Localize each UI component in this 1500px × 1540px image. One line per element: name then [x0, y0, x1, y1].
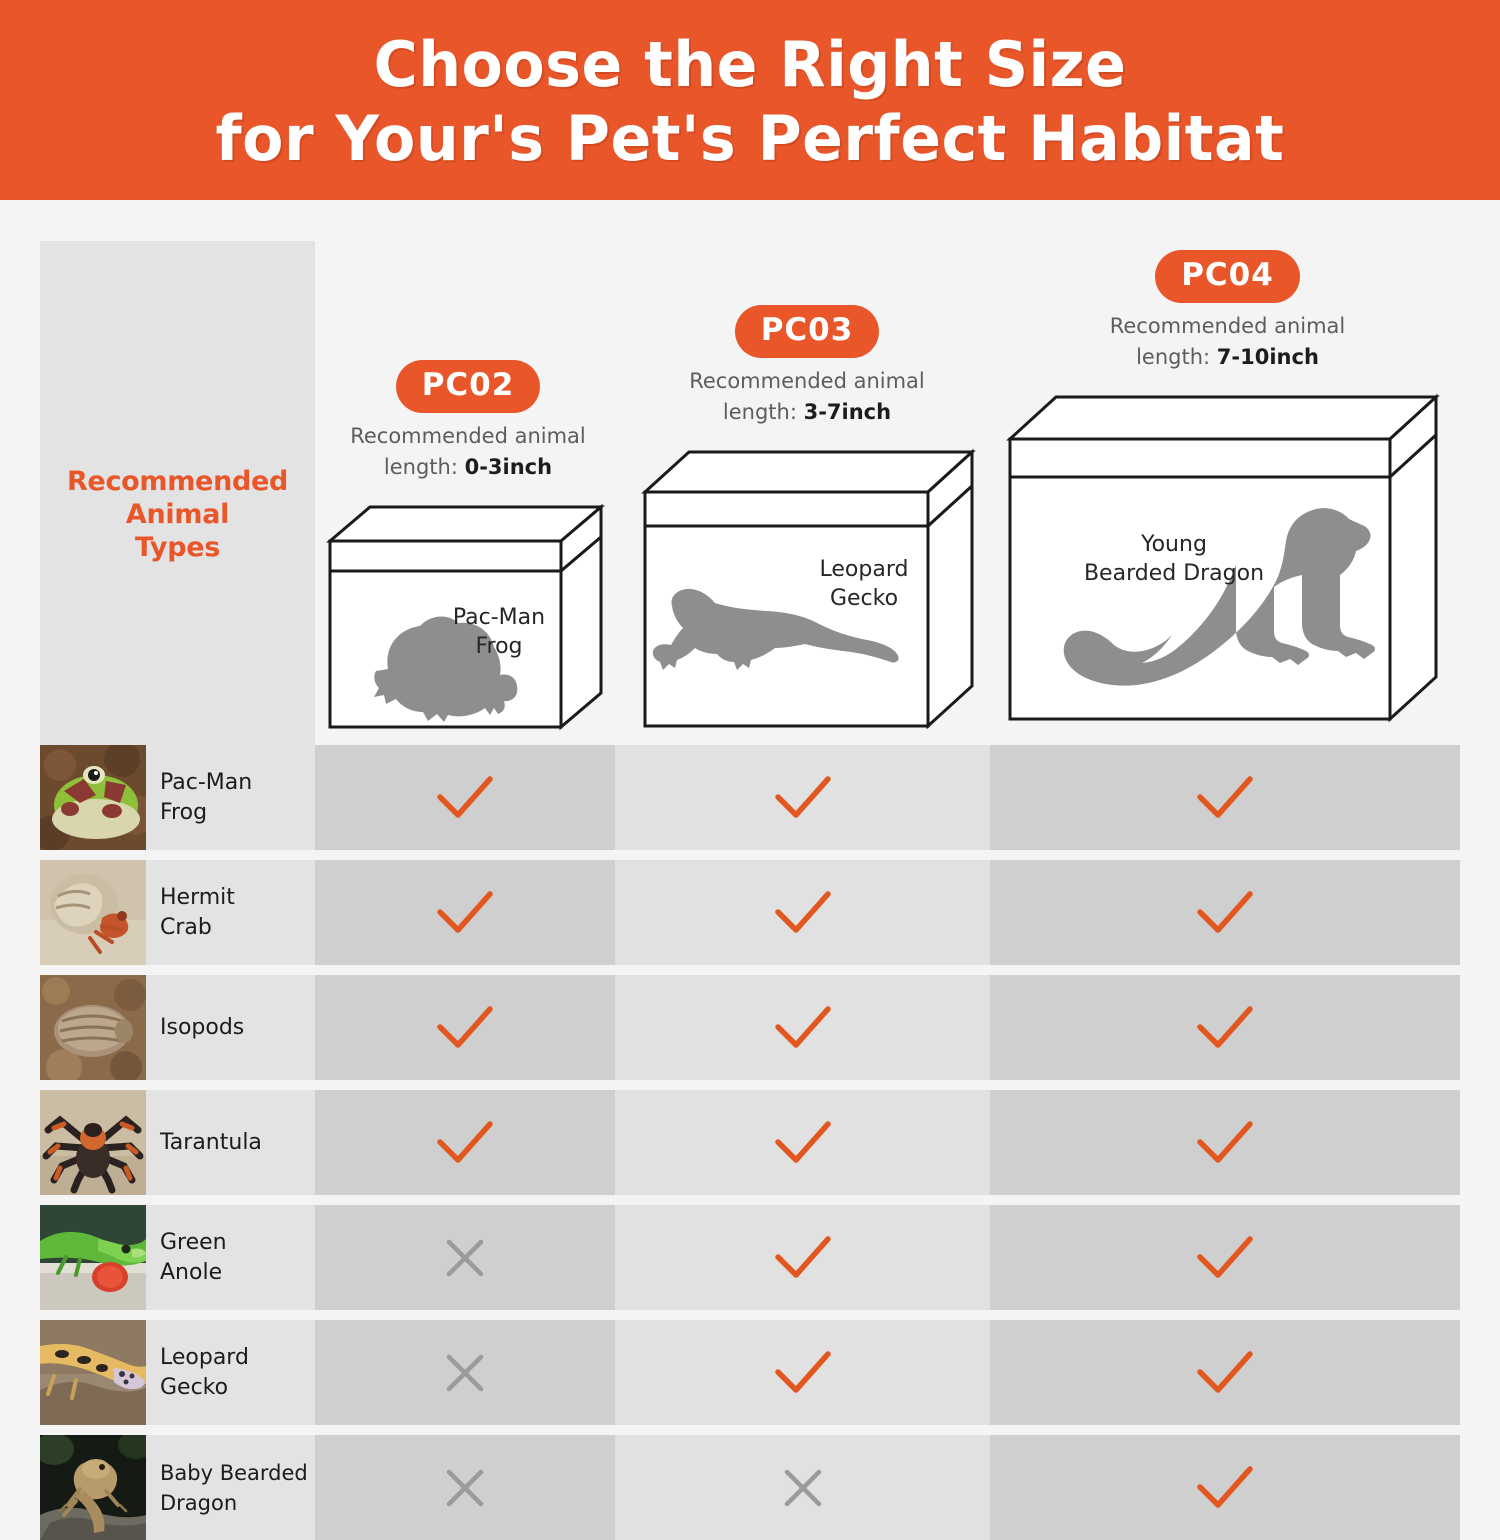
- cell-pc02[interactable]: [315, 1435, 615, 1540]
- terrarium-pc02-label-line-1: Pac-Man: [434, 603, 564, 632]
- headline-line-2: for Your's Pet's Perfect Habitat: [216, 102, 1285, 176]
- row-label-cell: Green Anole: [146, 1205, 315, 1310]
- cell-pc02[interactable]: [315, 1320, 615, 1425]
- table-row: Leopard Gecko: [0, 1320, 1500, 1425]
- title-line-2: Animal: [40, 498, 315, 531]
- pc04-caption: Recommended animal length: 7-10inch: [1000, 311, 1455, 373]
- table-row: Baby Bearded Dragon: [0, 1435, 1500, 1540]
- cross-icon: [439, 1347, 491, 1399]
- row-label-line-2: Frog: [160, 798, 252, 828]
- row-label-cell: Tarantula: [146, 1090, 315, 1195]
- table-row: Green Anole: [0, 1205, 1500, 1310]
- cell-pc03[interactable]: [615, 745, 990, 850]
- row-label-line-1: Pac-Man: [160, 768, 252, 798]
- pc03-caption-value: 3-7inch: [804, 400, 892, 424]
- check-icon: [434, 888, 496, 938]
- table-row: Tarantula: [0, 1090, 1500, 1195]
- cell-pc03[interactable]: [615, 1320, 990, 1425]
- pc02-badge-wrap: PC02: [318, 360, 618, 413]
- row-label-line-2: Dragon: [160, 1488, 308, 1518]
- check-icon: [772, 1003, 834, 1053]
- check-icon: [1194, 888, 1256, 938]
- product-group-pc03: PC03 Recommended animal length: 3-7inch …: [637, 305, 977, 735]
- pc04-caption-line-1: Recommended animal: [1110, 314, 1346, 338]
- leopard-gecko-photo: [40, 1320, 146, 1425]
- row-label: Green Anole: [146, 1228, 227, 1288]
- row-label: Tarantula: [146, 1128, 262, 1158]
- row-label-cell: Isopods: [146, 975, 315, 1080]
- check-icon: [772, 1348, 834, 1398]
- cell-pc03[interactable]: [615, 1090, 990, 1195]
- title-line-1: Recommended: [40, 465, 315, 498]
- terrarium-pc03-label-line-2: Gecko: [794, 584, 934, 613]
- cell-pc04[interactable]: [990, 1090, 1460, 1195]
- table-row: Isopods: [0, 975, 1500, 1080]
- pacman-frog-photo: [40, 745, 146, 850]
- recommended-animal-types-panel: Recommended Animal Types: [40, 241, 315, 745]
- check-icon: [772, 1118, 834, 1168]
- row-label-line-2: Anole: [160, 1258, 227, 1288]
- pc02-badge[interactable]: PC02: [396, 360, 541, 413]
- terrarium-pc03-label: Leopard Gecko: [794, 555, 934, 613]
- row-label-cell: Pac-Man Frog: [146, 745, 315, 850]
- tarantula-photo: [40, 1090, 146, 1195]
- check-icon: [1194, 1463, 1256, 1513]
- pc04-caption-label: length:: [1136, 345, 1210, 369]
- cell-pc03[interactable]: [615, 860, 990, 965]
- row-label-line-2: Gecko: [160, 1373, 249, 1403]
- terrarium-pc04-label-line-1: Young: [1064, 530, 1284, 559]
- title-line-3: Types: [40, 531, 315, 564]
- row-label-cell: Baby Bearded Dragon: [146, 1435, 315, 1540]
- row-label: Leopard Gecko: [146, 1343, 249, 1403]
- cell-pc02[interactable]: [315, 1205, 615, 1310]
- row-label-line-1: Tarantula: [160, 1128, 262, 1158]
- row-label-line-1: Hermit: [160, 883, 235, 913]
- row-label: Baby Bearded Dragon: [146, 1458, 308, 1518]
- cell-pc02[interactable]: [315, 1090, 615, 1195]
- cross-icon: [439, 1232, 491, 1284]
- row-label-line-1: Green: [160, 1228, 227, 1258]
- pc02-caption: Recommended animal length: 0-3inch: [318, 421, 618, 483]
- comparison-table: Pac-Man Frog: [0, 745, 1500, 1540]
- product-group-pc02: PC02 Recommended animal length: 0-3inch: [318, 360, 618, 735]
- isopod-photo: [40, 975, 146, 1080]
- header-banner: Choose the Right Size for Your's Pet's P…: [0, 0, 1500, 200]
- product-group-pc04: PC04 Recommended animal length: 7-10inch…: [1000, 250, 1455, 730]
- check-icon: [1194, 1348, 1256, 1398]
- cell-pc02[interactable]: [315, 745, 615, 850]
- row-label: Hermit Crab: [146, 883, 235, 943]
- cell-pc03[interactable]: [615, 975, 990, 1080]
- pc03-caption-label: length:: [723, 400, 797, 424]
- check-icon: [434, 1118, 496, 1168]
- check-icon: [434, 773, 496, 823]
- row-label-line-1: Baby Bearded: [160, 1458, 308, 1488]
- terrarium-pc04-label: Young Bearded Dragon: [1064, 530, 1284, 588]
- pc03-badge-wrap: PC03: [637, 305, 977, 358]
- terrarium-pc02: Pac-Man Frog: [324, 495, 618, 735]
- cell-pc04[interactable]: [990, 1435, 1460, 1540]
- cross-icon: [777, 1462, 829, 1514]
- terrarium-pc02-label: Pac-Man Frog: [434, 603, 564, 661]
- row-label: Isopods: [146, 1013, 244, 1043]
- cell-pc04[interactable]: [990, 860, 1460, 965]
- cross-icon: [439, 1462, 491, 1514]
- check-icon: [772, 888, 834, 938]
- check-icon: [772, 1233, 834, 1283]
- terrarium-pc04-label-line-2: Bearded Dragon: [1064, 559, 1284, 588]
- check-icon: [1194, 773, 1256, 823]
- cell-pc04[interactable]: [990, 1320, 1460, 1425]
- cell-pc04[interactable]: [990, 975, 1460, 1080]
- green-anole-photo: [40, 1205, 146, 1310]
- terrarium-pc04: Young Bearded Dragon: [1004, 385, 1455, 730]
- pc03-caption: Recommended animal length: 3-7inch: [637, 366, 977, 428]
- cell-pc03[interactable]: [615, 1435, 990, 1540]
- terrarium-pc03: Leopard Gecko: [639, 440, 977, 735]
- pc03-badge[interactable]: PC03: [735, 305, 880, 358]
- check-icon: [1194, 1003, 1256, 1053]
- row-label-line-1: Isopods: [160, 1013, 244, 1043]
- check-icon: [772, 773, 834, 823]
- row-label-cell: Leopard Gecko: [146, 1320, 315, 1425]
- check-icon: [1194, 1233, 1256, 1283]
- row-label: Pac-Man Frog: [146, 768, 252, 828]
- check-icon: [1194, 1118, 1256, 1168]
- terrarium-pc02-label-line-2: Frog: [434, 632, 564, 661]
- row-label-cell: Hermit Crab: [146, 860, 315, 965]
- baby-bearded-dragon-photo: [40, 1435, 146, 1540]
- pc02-caption-line-1: Recommended animal: [350, 424, 586, 448]
- pc02-caption-value: 0-3inch: [465, 455, 553, 479]
- row-label-line-1: Leopard: [160, 1343, 249, 1373]
- illustration-band: Recommended Animal Types PC02 Recommende…: [0, 200, 1500, 745]
- table-row: Pac-Man Frog: [0, 745, 1500, 850]
- pc04-caption-value: 7-10inch: [1217, 345, 1319, 369]
- table-row: Hermit Crab: [0, 860, 1500, 965]
- check-icon: [434, 1003, 496, 1053]
- pc04-badge-wrap: PC04: [1000, 250, 1455, 303]
- terrarium-pc03-label-line-1: Leopard: [794, 555, 934, 584]
- pc02-caption-label: length:: [384, 455, 458, 479]
- cell-pc03[interactable]: [615, 1205, 990, 1310]
- headline-line-1: Choose the Right Size: [374, 28, 1127, 102]
- pc04-badge[interactable]: PC04: [1155, 250, 1300, 303]
- cell-pc02[interactable]: [315, 975, 615, 1080]
- hermit-crab-photo: [40, 860, 146, 965]
- cell-pc04[interactable]: [990, 745, 1460, 850]
- pc03-caption-line-1: Recommended animal: [689, 369, 925, 393]
- row-label-line-2: Crab: [160, 913, 235, 943]
- cell-pc02[interactable]: [315, 860, 615, 965]
- recommended-animal-types-title: Recommended Animal Types: [40, 465, 315, 564]
- cell-pc04[interactable]: [990, 1205, 1460, 1310]
